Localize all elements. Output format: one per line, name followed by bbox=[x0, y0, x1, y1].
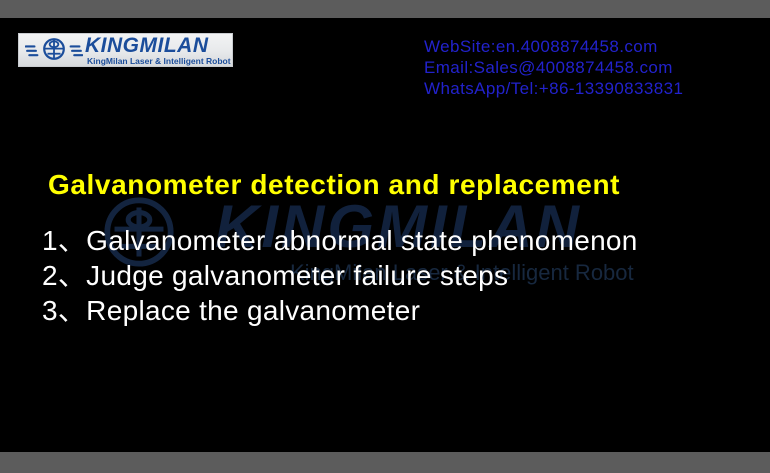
contact-info-block: WebSite:en.4008874458.com Email:Sales@40… bbox=[424, 36, 683, 99]
bullet-item-1: 1、Galvanometer abnormal state phenomenon bbox=[42, 223, 756, 258]
logo-wordmark: KINGMILAN bbox=[85, 35, 209, 56]
screenshot-stage: KINGMILAN KingMilan Laser & Intelligent … bbox=[0, 0, 770, 473]
logo-tagline: KingMilan Laser & Intelligent Robot bbox=[87, 57, 231, 66]
letterbox-bar-top bbox=[0, 0, 770, 18]
kingmilan-logo-icon bbox=[25, 37, 83, 61]
bullet-item-2: 2、Judge galvanometer failure steps bbox=[42, 258, 756, 293]
kingmilan-logo-plate: KINGMILAN KingMilan Laser & Intelligent … bbox=[18, 33, 233, 67]
contact-website: WebSite:en.4008874458.com bbox=[424, 36, 683, 57]
contact-email: Email:Sales@4008874458.com bbox=[424, 57, 683, 78]
bullet-item-3: 3、Replace the galvanometer bbox=[42, 293, 756, 328]
letterbox-bar-bottom bbox=[0, 452, 770, 473]
slide-bullet-list: 1、Galvanometer abnormal state phenomenon… bbox=[42, 223, 756, 328]
contact-whatsapp-tel: WhatsApp/Tel:+86-13390833831 bbox=[424, 78, 683, 99]
slide-title: Galvanometer detection and replacement bbox=[48, 169, 620, 201]
presentation-slide: KINGMILAN KingMilan Laser & Intelligent … bbox=[0, 18, 770, 452]
